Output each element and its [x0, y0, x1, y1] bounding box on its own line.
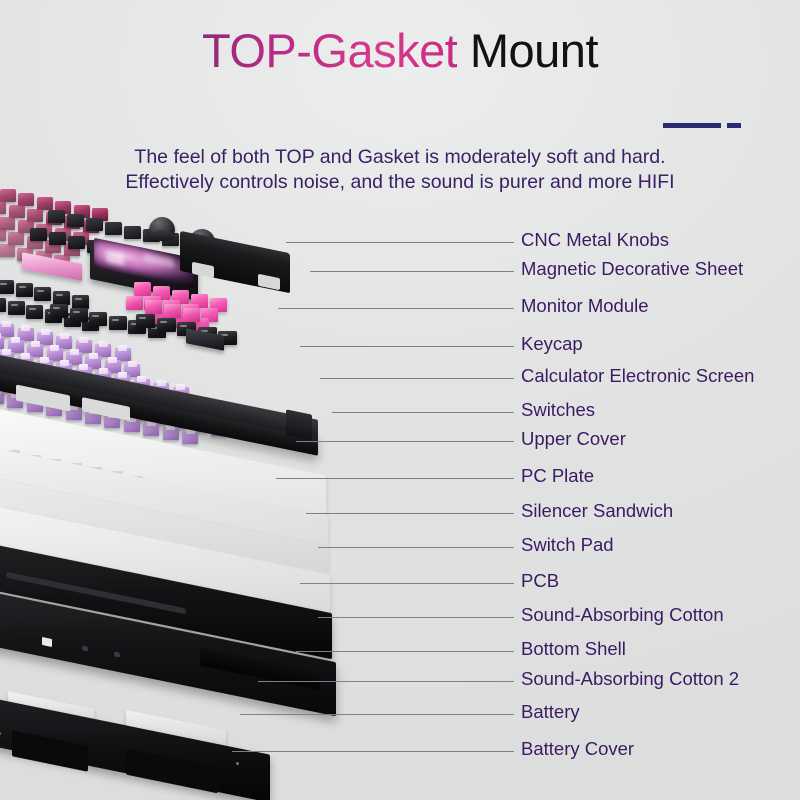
callout-leader-line: [296, 441, 514, 442]
subtitle: The feel of both TOP and Gasket is moder…: [0, 145, 800, 195]
callout-leader-line: [258, 681, 514, 682]
callout-leader-line: [240, 714, 514, 715]
title-plain: Mount: [457, 24, 598, 77]
callout-leader-line: [286, 242, 514, 243]
callout-label: Bottom Shell: [521, 638, 626, 660]
product-infographic: CNC Metal KnobsMagnetic Decorative Sheet…: [0, 0, 800, 800]
callout-label: Switches: [521, 399, 595, 421]
page-title: TOP-Gasket Mount: [0, 26, 800, 75]
title-colored: TOP-Gasket: [202, 24, 457, 77]
callout-leader-line: [318, 547, 514, 548]
callout-leader-line: [300, 583, 514, 584]
callout-label: Battery Cover: [521, 738, 634, 760]
callout-label: Switch Pad: [521, 534, 614, 556]
callout-label: Silencer Sandwich: [521, 500, 673, 522]
callout-label: CNC Metal Knobs: [521, 229, 669, 251]
callout-leader-line: [332, 412, 514, 413]
callout-label: Sound-Absorbing Cotton 2: [521, 668, 739, 690]
callout-label: Calculator Electronic Screen: [521, 365, 754, 387]
callout-label: Upper Cover: [521, 428, 626, 450]
callout-label: Battery: [521, 701, 580, 723]
callout-list: CNC Metal KnobsMagnetic Decorative Sheet…: [0, 0, 800, 800]
callout-leader-line: [232, 751, 514, 752]
callout-label: Monitor Module: [521, 295, 649, 317]
callout-leader-line: [296, 651, 514, 652]
callout-leader-line: [276, 478, 514, 479]
decorative-rule-segment-long: [663, 123, 721, 128]
callout-label: Keycap: [521, 333, 583, 355]
callout-leader-line: [310, 271, 514, 272]
callout-leader-line: [300, 346, 514, 347]
callout-leader-line: [318, 617, 514, 618]
subtitle-line-2: Effectively controls noise, and the soun…: [0, 170, 800, 195]
callout-label: Magnetic Decorative Sheet: [521, 258, 743, 280]
decorative-rule: [663, 123, 743, 128]
callout-leader-line: [278, 308, 514, 309]
callout-leader-line: [320, 378, 514, 379]
callout-leader-line: [306, 513, 514, 514]
callout-label: PC Plate: [521, 465, 594, 487]
callout-label: PCB: [521, 570, 559, 592]
callout-label: Sound-Absorbing Cotton: [521, 604, 724, 626]
subtitle-line-1: The feel of both TOP and Gasket is moder…: [0, 145, 800, 170]
decorative-rule-segment-short: [727, 123, 741, 128]
